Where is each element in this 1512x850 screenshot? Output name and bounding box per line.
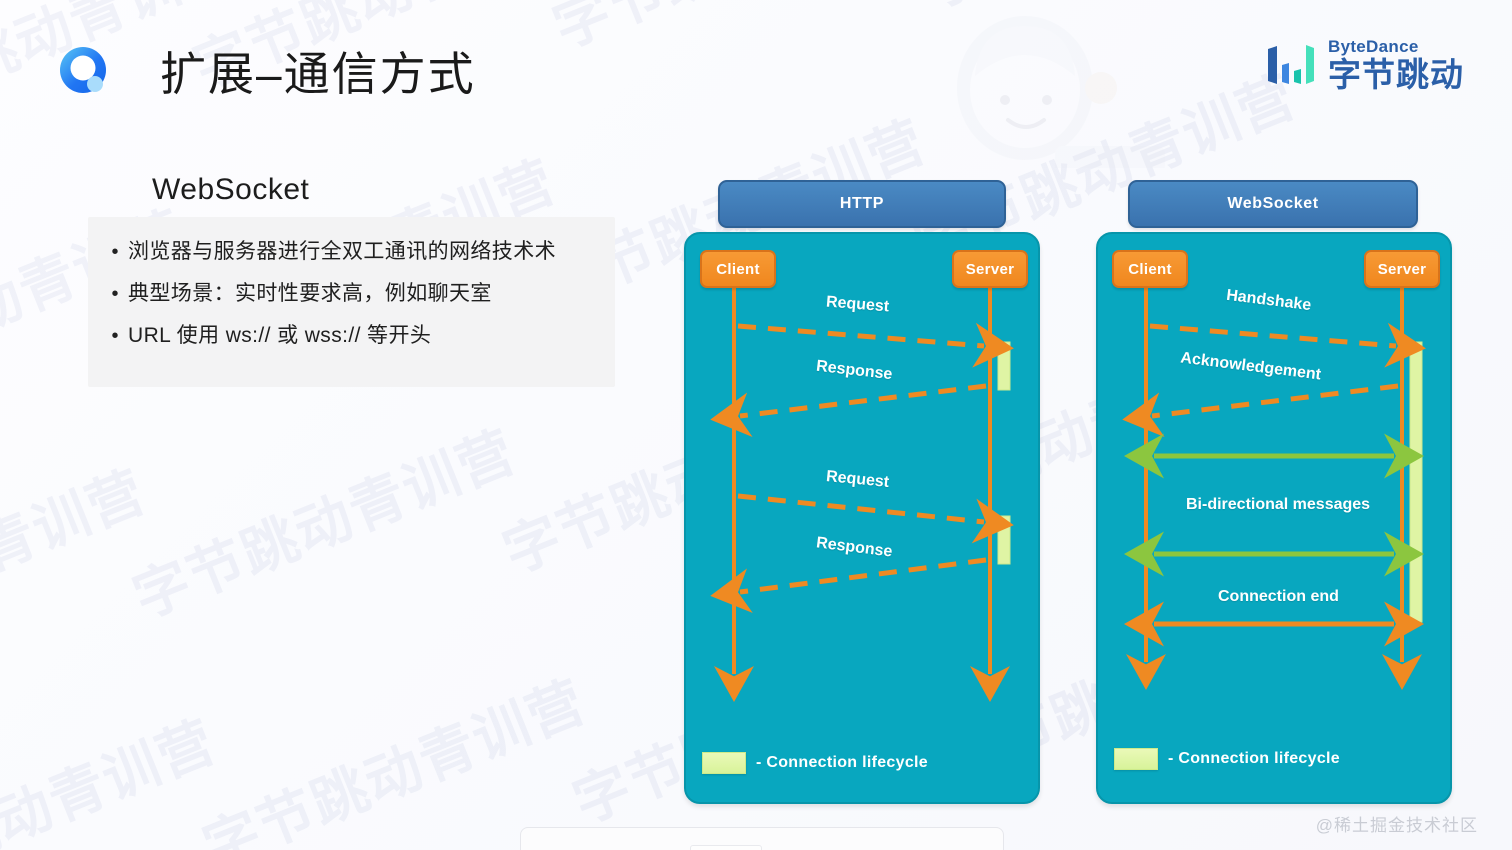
brand-name-en: ByteDance: [1328, 38, 1464, 55]
http-sequence-svg: [686, 234, 1040, 804]
watermark-text: 字节跳动青训营: [0, 697, 226, 850]
astronaut-mascot-icon: [905, 8, 1175, 168]
list-item: • 典型场景：实时性要求高，例如聊天室: [102, 277, 601, 311]
bullet-card: • 浏览器与服务器进行全双工通讯的网络技术术 • 典型场景：实时性要求高，例如聊…: [88, 217, 615, 387]
websocket-diagram-body: Client Server Handshake Acknowledgement …: [1096, 232, 1452, 804]
lifecycle-swatch-icon: [1114, 748, 1158, 770]
http-legend-label: - Connection lifecycle: [756, 754, 928, 772]
bullet-marker: •: [102, 319, 128, 353]
watermark-text: 字节跳动青训营: [120, 407, 527, 634]
websocket-message-label: Connection end: [1218, 588, 1339, 606]
watermark-text: 字节跳动青训营: [540, 0, 947, 64]
list-item: • URL 使用 ws:// 或 wss:// 等开头: [102, 319, 601, 353]
page-title: 扩展–通信方式: [160, 38, 476, 104]
http-server-node: Server: [952, 250, 1028, 288]
websocket-client-node: Client: [1112, 250, 1188, 288]
slide-root: 字节跳动青训营 字节跳动青训营 字节跳动青训营 字节跳动青训营 字节跳动青训营 …: [0, 0, 1512, 850]
watermark-text: 字节跳动青训营: [0, 447, 156, 674]
websocket-sequence-svg: [1098, 234, 1452, 804]
bottom-panel-inner-fragment: [690, 845, 762, 850]
http-diagram-body: Client Server Request Response Request R…: [684, 232, 1040, 804]
http-legend: - Connection lifecycle: [702, 752, 928, 774]
websocket-message-label: Bi-directional messages: [1186, 496, 1370, 514]
watermark-text: 字节跳动青训营: [190, 657, 597, 850]
bullet-marker: •: [102, 235, 128, 269]
bullet-marker: •: [102, 277, 128, 311]
bottom-panel-fragment: [520, 827, 1004, 850]
bullet-text: 典型场景：实时性要求高，例如聊天室: [128, 277, 492, 311]
qingxunying-ring-logo-icon: [54, 41, 112, 99]
http-diagram-header: HTTP: [718, 180, 1006, 228]
http-client-node: Client: [700, 250, 776, 288]
watermark-text: 字节跳动青训营: [910, 0, 1317, 24]
section-heading: WebSocket: [152, 173, 309, 207]
lifecycle-swatch-icon: [702, 752, 746, 774]
bytedance-bars-icon: [1266, 43, 1316, 87]
websocket-legend: - Connection lifecycle: [1114, 748, 1340, 770]
bullet-text: URL 使用 ws:// 或 wss:// 等开头: [128, 319, 431, 353]
websocket-legend-label: - Connection lifecycle: [1168, 750, 1340, 768]
bullet-text: 浏览器与服务器进行全双工通讯的网络技术术: [128, 235, 556, 269]
bytedance-brand-logo: ByteDance 字节跳动: [1266, 38, 1464, 91]
websocket-server-node: Server: [1364, 250, 1440, 288]
websocket-diagram-header: WebSocket: [1128, 180, 1418, 228]
list-item: • 浏览器与服务器进行全双工通讯的网络技术术: [102, 235, 601, 269]
attribution-text: @稀土掘金技术社区: [1316, 811, 1478, 836]
brand-name-cn: 字节跳动: [1328, 58, 1464, 91]
